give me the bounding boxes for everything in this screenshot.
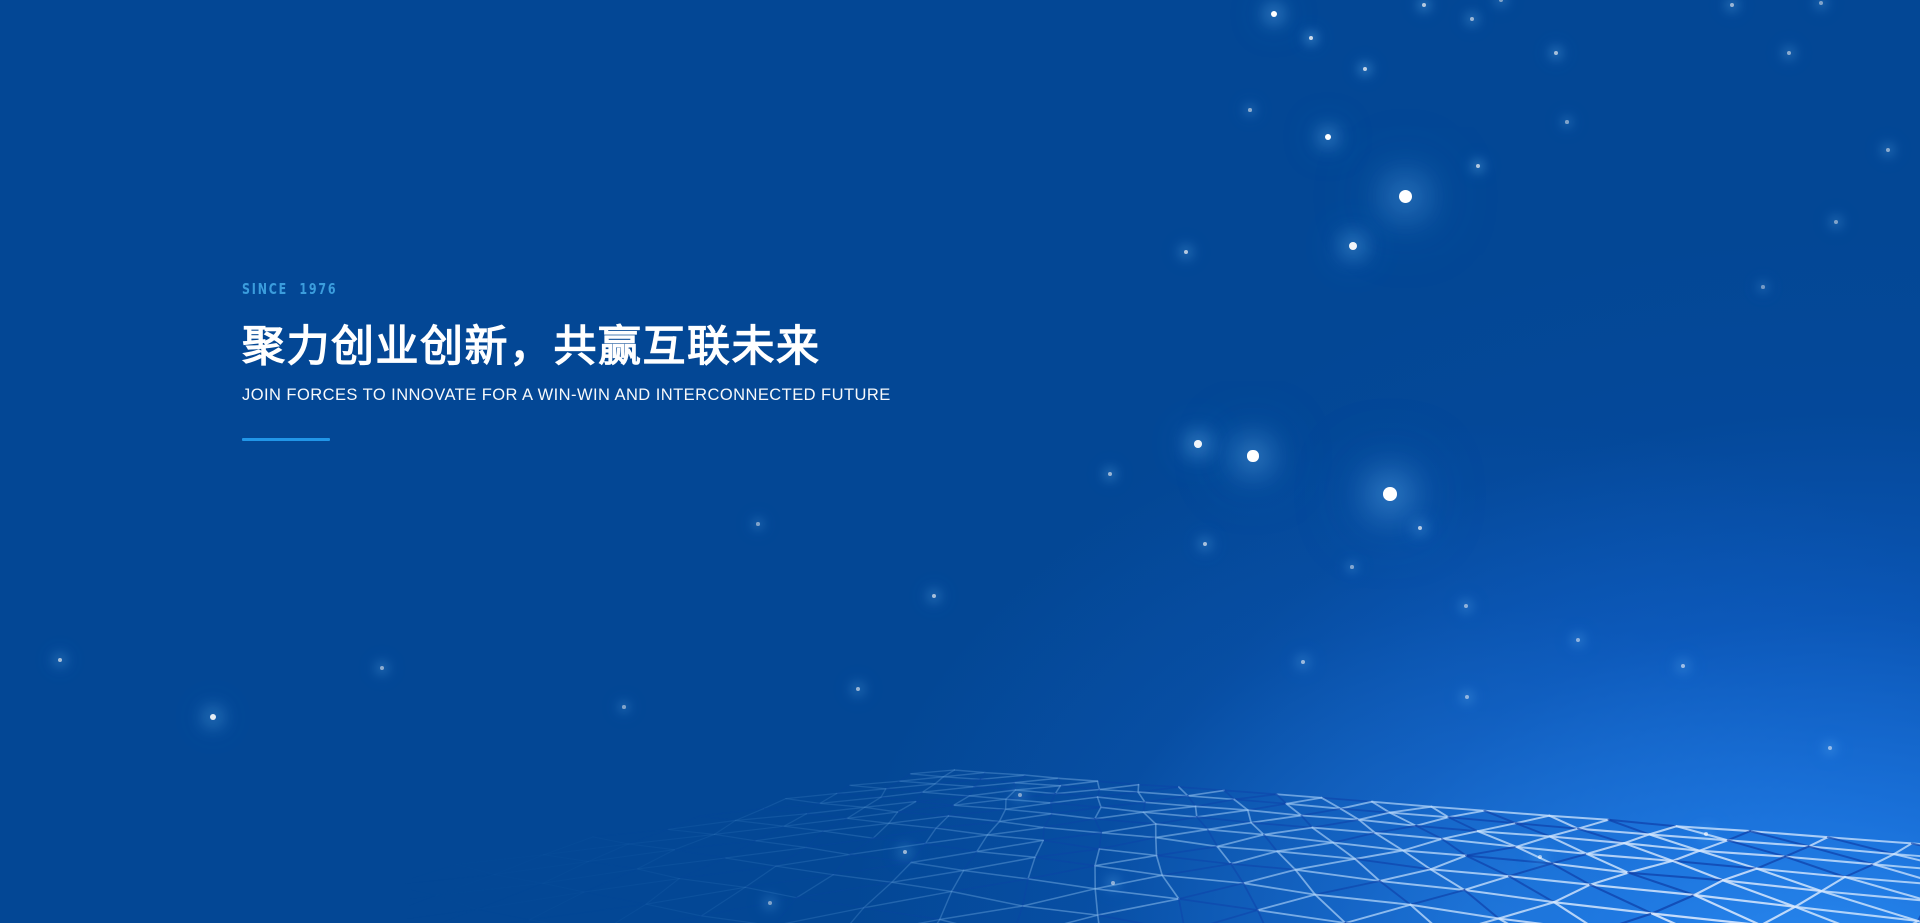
glow-dot [1464,604,1468,608]
glow-dot [1476,164,1480,168]
glow-dot [1248,108,1252,112]
glow-dot [1819,1,1823,5]
page-subtitle: JOIN FORCES TO INNOVATE FOR A WIN-WIN AN… [242,386,1242,406]
glow-dot [1309,36,1313,40]
glow-dot [1465,695,1469,699]
glow-dot [932,594,936,598]
glow-dot [1576,638,1580,642]
glow-dot [622,705,626,709]
glow-dot [1828,746,1832,750]
glow-dot [1247,450,1258,461]
glow-dot [1399,190,1412,203]
hero-banner: SINCE 1976 聚力创业创新，共赢互联未来 JOIN FORCES TO … [0,0,1920,923]
glow-dot [1730,3,1734,7]
glow-dot [1787,51,1791,55]
glow-dot [856,687,860,691]
background-glow [0,0,1920,923]
glow-dot [1184,250,1188,254]
glow-dot [1704,832,1709,837]
hero-copy-block: SINCE 1976 聚力创业创新，共赢互联未来 JOIN FORCES TO … [242,282,1242,441]
glow-dot [380,666,384,670]
glow-dot [58,658,62,662]
glow-dot [210,714,216,720]
glow-dot [1886,148,1890,152]
glow-dot [1350,565,1354,569]
glow-dot [903,850,907,854]
page-title: 聚力创业创新，共赢互联未来 [242,323,1242,371]
glow-dot [1111,881,1115,885]
glow-dot [1418,526,1423,531]
glow-dot [1194,440,1202,448]
glow-dot [1325,134,1331,140]
glow-dot [1271,11,1277,17]
glow-dot [1301,660,1305,664]
glow-dot [1203,542,1207,546]
glow-dot [1018,793,1022,797]
glow-dot [1349,242,1357,250]
since-eyebrow: SINCE 1976 [242,282,1062,297]
accent-divider [242,438,330,441]
glow-dot [1681,664,1685,668]
glow-dot [1538,855,1542,859]
glow-dot [756,522,760,526]
glow-dot [1422,3,1426,7]
glow-dot [1383,487,1397,501]
glow-dot [1470,17,1474,21]
glow-dot [1499,0,1503,2]
glow-dot [1834,220,1838,224]
glow-dot [1108,472,1112,476]
hexagonal-network-mesh [0,0,1920,923]
glow-dot [1761,285,1765,289]
glow-dot [1565,120,1569,124]
glow-dot [1554,51,1558,55]
glow-dot [768,901,772,905]
glow-dot [1363,67,1367,71]
